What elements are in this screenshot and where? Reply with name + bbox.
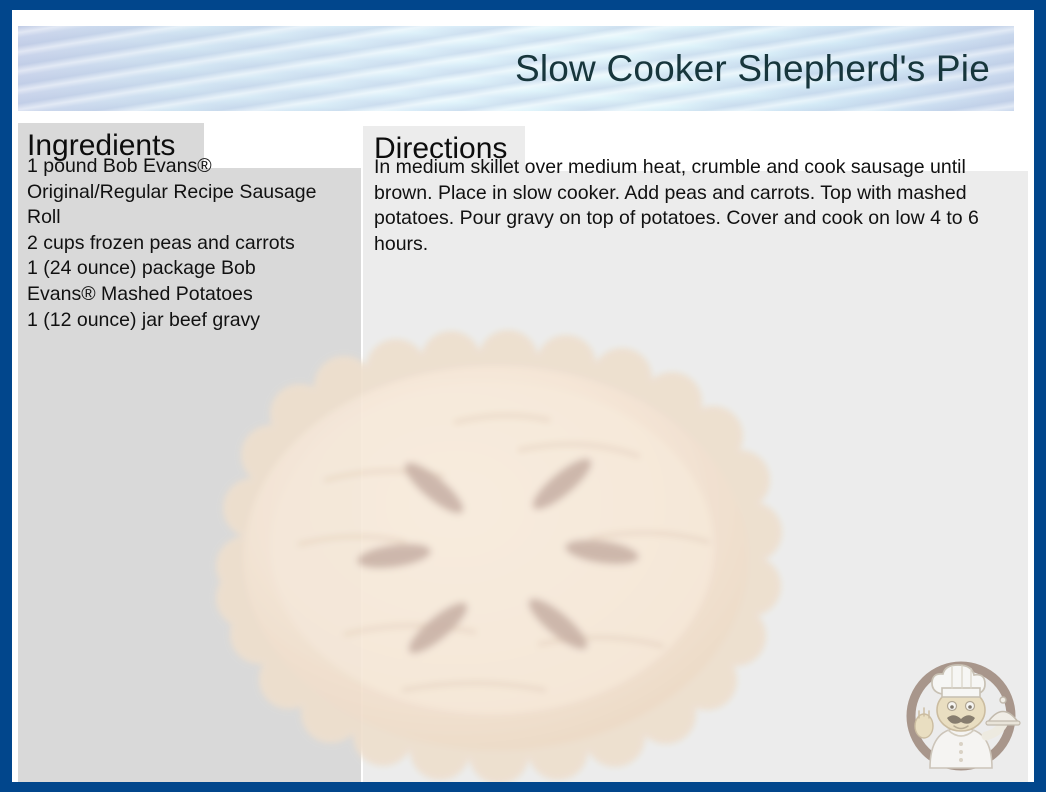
chef-mascot-logo	[900, 652, 1022, 772]
list-item: Evans® Mashed Potatoes	[27, 282, 352, 308]
directions-text: In medium skillet over medium heat, crum…	[374, 155, 1017, 257]
list-item: Roll	[27, 205, 352, 231]
recipe-card: Slow Cooker Shepherd's Pie	[0, 0, 1046, 792]
list-item: 1 (24 ounce) package Bob	[27, 256, 352, 282]
list-item: 2 cups frozen peas and carrots	[27, 231, 352, 257]
ingredients-panel: Ingredients 1 pound Bob Evans® Original/…	[18, 123, 361, 782]
page-title: Slow Cooker Shepherd's Pie	[515, 48, 990, 90]
list-item: 1 (12 ounce) jar beef gravy	[27, 308, 352, 334]
header-banner: Slow Cooker Shepherd's Pie	[18, 26, 1014, 111]
list-item: 1 pound Bob Evans®	[27, 154, 352, 180]
ingredients-list: 1 pound Bob Evans® Original/Regular Reci…	[27, 154, 352, 333]
list-item: Original/Regular Recipe Sausage	[27, 180, 352, 206]
recipe-card-inner: Slow Cooker Shepherd's Pie	[12, 10, 1034, 782]
